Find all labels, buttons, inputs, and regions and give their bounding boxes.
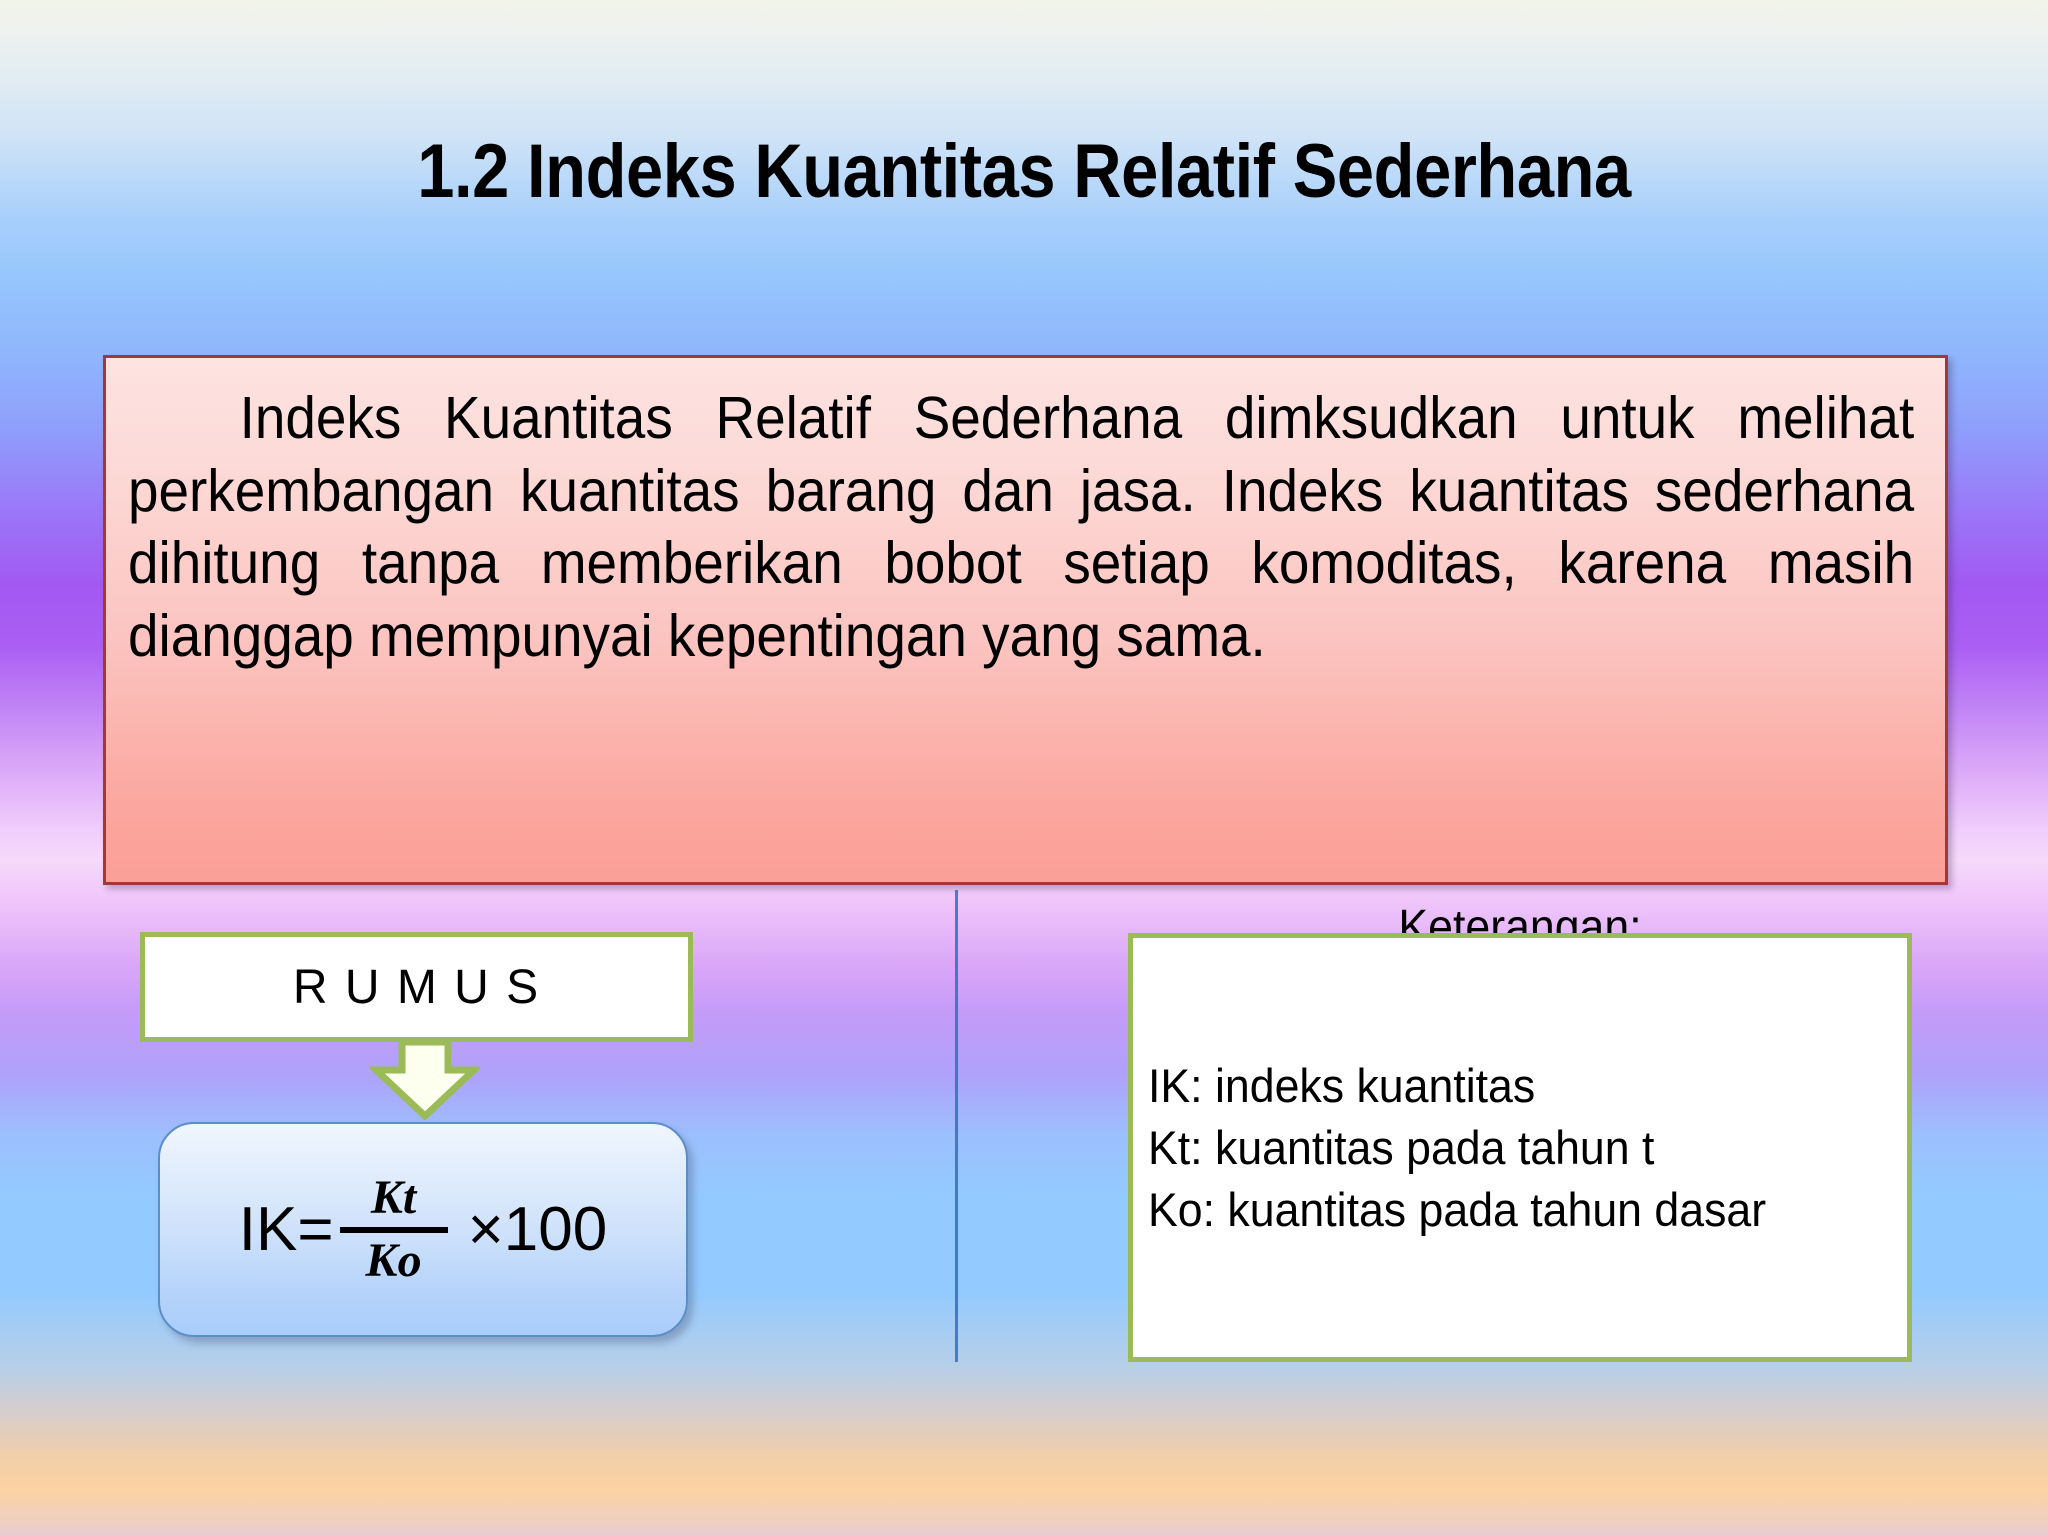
slide-canvas: 1.2 Indeks Kuantitas Relatif Sederhana I… — [0, 0, 2048, 1536]
description-text: Indeks Kuantitas Relatif Sederhana dimks… — [128, 382, 1914, 672]
down-arrow-icon — [370, 1040, 480, 1120]
description-body: Indeks Kuantitas Relatif Sederhana dimks… — [128, 385, 1914, 669]
formula-fraction: Kt Ko — [340, 1173, 448, 1286]
formula-box: IK= Kt Ko ×100 — [158, 1122, 688, 1337]
rumus-header-box: R U M U S — [140, 932, 693, 1042]
formula-numerator: Kt — [363, 1173, 424, 1223]
description-box: Indeks Kuantitas Relatif Sederhana dimks… — [103, 355, 1948, 885]
formula-expression: IK= Kt Ko ×100 — [239, 1173, 607, 1286]
list-item: Kt: kuantitas pada tahun t — [1148, 1117, 1870, 1179]
keterangan-list: IK: indeks kuantitas Kt: kuantitas pada … — [1148, 1055, 1870, 1241]
list-item: Ko: kuantitas pada tahun dasar — [1148, 1179, 1870, 1241]
vertical-divider — [955, 890, 958, 1362]
fraction-bar — [340, 1227, 448, 1233]
page-title: 1.2 Indeks Kuantitas Relatif Sederhana — [123, 128, 1925, 215]
formula-lead: IK= — [239, 1194, 334, 1265]
list-item: IK: indeks kuantitas — [1148, 1055, 1870, 1117]
rumus-label: R U M U S — [293, 960, 540, 1015]
formula-tail: ×100 — [468, 1194, 608, 1265]
formula-denominator: Ko — [358, 1236, 430, 1286]
